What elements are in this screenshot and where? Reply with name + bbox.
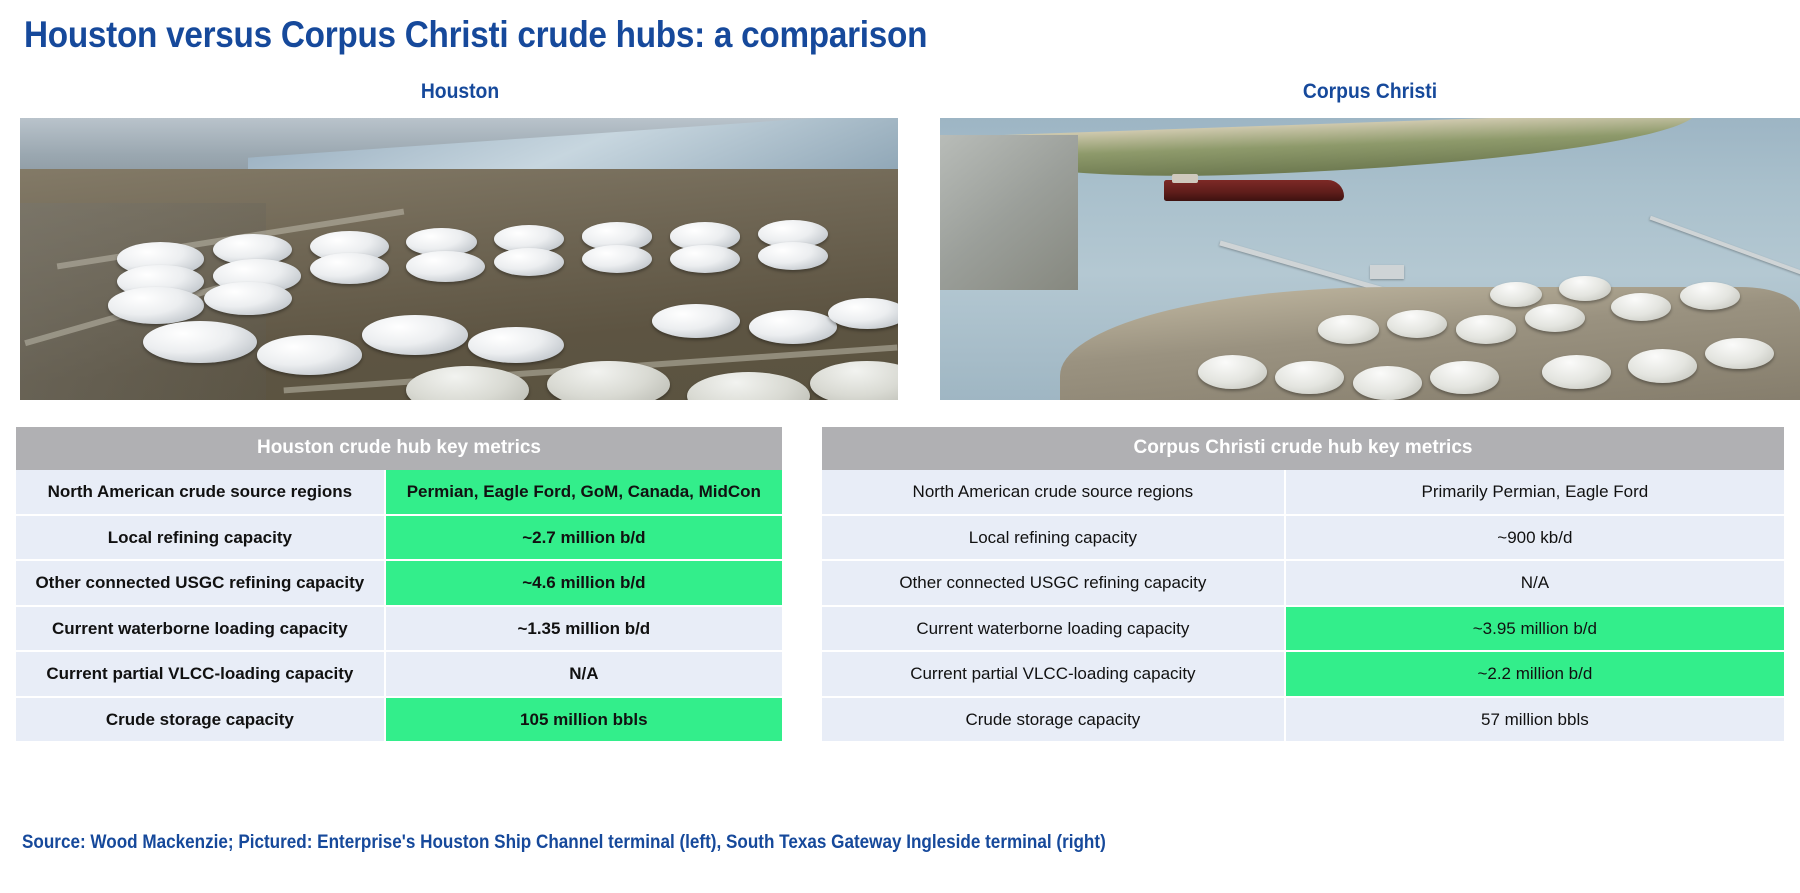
metric-label: Crude storage capacity: [822, 698, 1284, 744]
metric-value: ~1.35 million b/d: [384, 607, 782, 653]
storage-tank: [143, 321, 257, 363]
page-title: Houston versus Corpus Christi crude hubs…: [24, 14, 927, 56]
storage-tank: [204, 282, 292, 316]
storage-tank: [1456, 315, 1516, 343]
table-corpus-christi-metrics: Corpus Christi crude hub key metrics Nor…: [820, 425, 1786, 745]
table-row: Current partial VLCC-loading capacityN/A: [16, 652, 782, 698]
metric-label: North American crude source regions: [822, 470, 1284, 516]
metric-label: Local refining capacity: [16, 516, 384, 562]
table-row: Other connected USGC refining capacityN/…: [822, 561, 1784, 607]
storage-tank: [1705, 338, 1774, 369]
table-row: Current partial VLCC-loading capacity~2.…: [822, 652, 1784, 698]
storage-tank: [582, 245, 652, 273]
storage-tank: [1542, 355, 1611, 389]
metric-label: Current waterborne loading capacity: [16, 607, 384, 653]
metric-label: Other connected USGC refining capacity: [16, 561, 384, 607]
metric-label: Current partial VLCC-loading capacity: [16, 652, 384, 698]
storage-tank: [1680, 282, 1740, 310]
metric-value: 105 million bbls: [384, 698, 782, 744]
table-row: Crude storage capacity57 million bbls: [822, 698, 1784, 744]
storage-tank: [670, 245, 740, 273]
metric-label: Local refining capacity: [822, 516, 1284, 562]
metric-value: ~2.7 million b/d: [384, 516, 782, 562]
storage-tank: [652, 304, 740, 338]
dock-loading-platform: [1370, 265, 1404, 279]
table-body-houston: North American crude source regionsPermi…: [16, 470, 782, 743]
storage-tank: [1430, 361, 1499, 395]
metric-value: N/A: [1284, 561, 1784, 607]
slide-canvas: Houston versus Corpus Christi crude hubs…: [0, 0, 1800, 893]
table-row: Current waterborne loading capacity~3.95…: [822, 607, 1784, 653]
table-row: Local refining capacity~2.7 million b/d: [16, 516, 782, 562]
storage-tank: [749, 310, 837, 344]
storage-tank: [1198, 355, 1267, 389]
metric-label: North American crude source regions: [16, 470, 384, 516]
table-header-houston: Houston crude hub key metrics: [16, 427, 782, 470]
metric-value: ~900 kb/d: [1284, 516, 1784, 562]
table-header-corpus-christi: Corpus Christi crude hub key metrics: [822, 427, 1784, 470]
table-row: North American crude source regionsPermi…: [16, 470, 782, 516]
storage-tank: [1353, 366, 1422, 400]
storage-tank: [1559, 276, 1611, 301]
storage-tank: [1628, 349, 1697, 383]
storage-tank: [1490, 282, 1542, 307]
source-footnote: Source: Wood Mackenzie; Pictured: Enterp…: [22, 832, 1106, 854]
metric-value: N/A: [384, 652, 782, 698]
metric-value: 57 million bbls: [1284, 698, 1784, 744]
table-row: North American crude source regionsPrima…: [822, 470, 1784, 516]
metric-value: ~3.95 million b/d: [1284, 607, 1784, 653]
storage-tank: [1387, 310, 1447, 338]
storage-tank: [406, 251, 485, 282]
photo-south-texas-gateway-ingleside-terminal: [940, 118, 1800, 400]
table-row: Crude storage capacity105 million bbls: [16, 698, 782, 744]
storage-tank: [257, 335, 362, 374]
metric-label: Current waterborne loading capacity: [822, 607, 1284, 653]
table-houston-metrics: Houston crude hub key metrics North Amer…: [14, 425, 784, 745]
storage-tank: [494, 248, 564, 276]
storage-tank: [758, 242, 828, 270]
photo-shoreline-industry: [940, 135, 1078, 290]
metric-value: Permian, Eagle Ford, GoM, Canada, MidCon: [384, 470, 782, 516]
metric-label: Current partial VLCC-loading capacity: [822, 652, 1284, 698]
table-row: Local refining capacity~900 kb/d: [822, 516, 1784, 562]
storage-tank: [108, 287, 205, 324]
metric-label: Other connected USGC refining capacity: [822, 561, 1284, 607]
table-row: Current waterborne loading capacity~1.35…: [16, 607, 782, 653]
crude-tanker-ship: [1164, 180, 1345, 201]
metric-value: ~4.6 million b/d: [384, 561, 782, 607]
table-row: Other connected USGC refining capacity~4…: [16, 561, 782, 607]
storage-tank: [362, 315, 467, 354]
ship-superstructure: [1172, 174, 1198, 182]
storage-tank: [1611, 293, 1671, 321]
metric-value: ~2.2 million b/d: [1284, 652, 1784, 698]
metric-value: Primarily Permian, Eagle Ford: [1284, 470, 1784, 516]
storage-tank: [1275, 361, 1344, 395]
column-heading-corpus-christi: Corpus Christi: [974, 80, 1765, 104]
storage-tank: [1318, 315, 1378, 343]
table-body-corpus-christi: North American crude source regionsPrima…: [822, 470, 1784, 743]
column-heading-houston: Houston: [55, 80, 865, 104]
metric-label: Crude storage capacity: [16, 698, 384, 744]
photo-houston-ship-channel-terminal: [20, 118, 898, 400]
